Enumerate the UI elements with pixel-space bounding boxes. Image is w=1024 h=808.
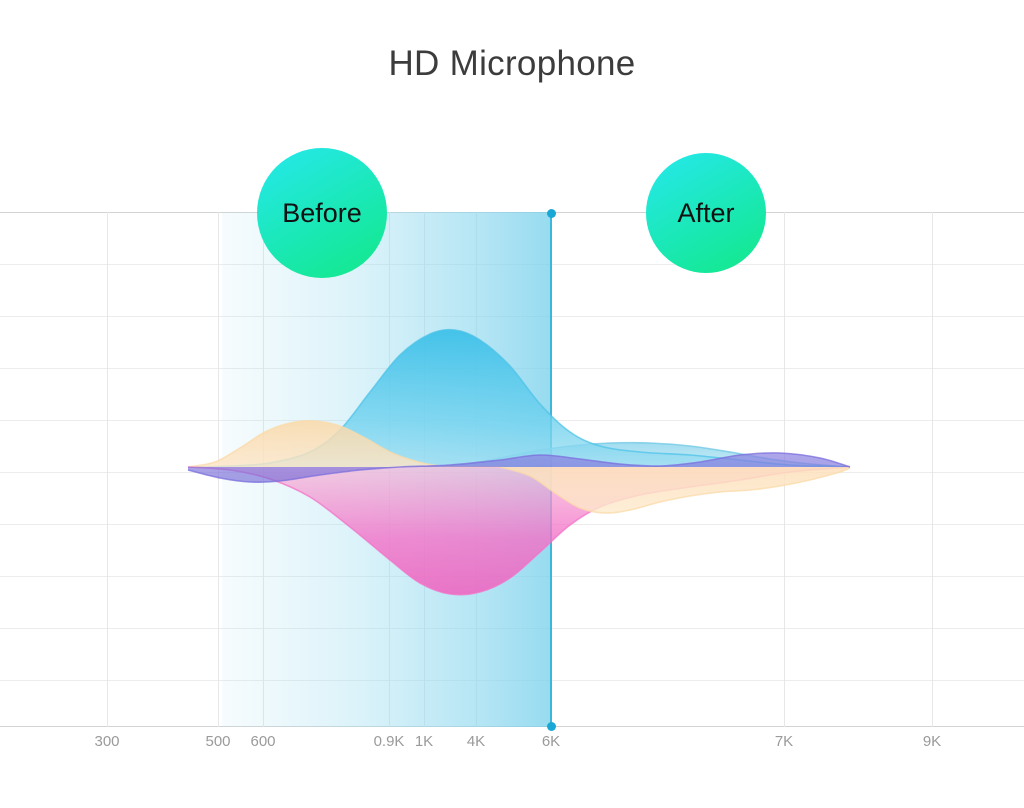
x-tick-label: 9K <box>923 733 941 750</box>
x-tick-label: 7K <box>775 733 793 750</box>
x-tick-label: 4K <box>467 733 485 750</box>
x-tick-label: 0.9K <box>374 733 405 750</box>
page-title: HD Microphone <box>0 42 1024 86</box>
badge-after[interactable]: After <box>646 153 766 273</box>
badge-label: After <box>677 198 734 229</box>
screenshot-root: HD Microphone <box>0 0 1024 808</box>
badge-before[interactable]: Before <box>257 148 387 278</box>
waveform-layer <box>0 212 1024 727</box>
x-tick-label: 500 <box>205 733 230 750</box>
x-tick-label: 6K <box>542 733 560 750</box>
selection-handle-dot-bottom[interactable] <box>547 722 556 731</box>
x-tick-label: 600 <box>250 733 275 750</box>
selection-handle-dot-top[interactable] <box>547 209 556 218</box>
x-tick-label: 300 <box>94 733 119 750</box>
badge-label: Before <box>282 198 362 229</box>
x-tick-label: 1K <box>415 733 433 750</box>
frequency-response-chart[interactable] <box>0 212 1024 727</box>
